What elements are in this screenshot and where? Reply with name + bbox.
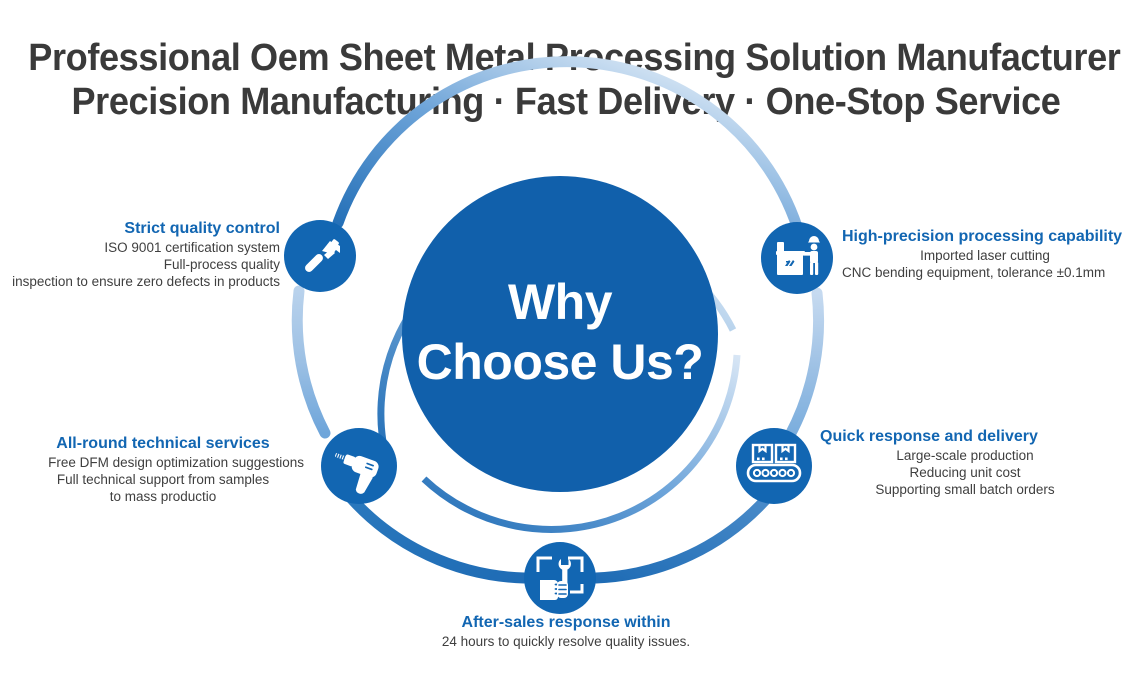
feature-line: inspection to ensure zero defects in pro…: [4, 273, 280, 290]
feature-title: High-precision processing capability: [842, 227, 1128, 247]
feature-text-quick-response-and-delivery: Quick response and delivery Large-scale …: [820, 427, 1110, 498]
arc-right: [790, 293, 819, 435]
feature-line: Reducing unit cost: [820, 464, 1110, 481]
feature-title: Quick response and delivery: [820, 427, 1110, 447]
feature-text-all-round-technical-services: All-round technical services Free DFM de…: [22, 434, 304, 505]
feature-line: Full-process quality: [4, 256, 280, 273]
arc-bottom-left: [350, 497, 524, 578]
feature-line: ISO 9001 certification system: [4, 239, 280, 256]
feature-text-high-precision-processing: High-precision processing capability Imp…: [842, 227, 1128, 281]
arc-bottom-right: [596, 497, 768, 578]
feature-text-after-sales-response: After-sales response within 24 hours to …: [366, 613, 766, 650]
feature-line: Supporting small batch orders: [820, 481, 1110, 498]
center-circle: [402, 176, 718, 492]
feature-line: Imported laser cutting: [842, 247, 1128, 264]
feature-line: CNC bending equipment, tolerance ±0.1mm: [842, 264, 1128, 281]
feature-node-all-round-technical-services[interactable]: [321, 428, 397, 504]
arc-left: [297, 291, 325, 433]
feature-line: Large-scale production: [820, 447, 1110, 464]
feature-node-quick-response-and-delivery[interactable]: [736, 428, 812, 504]
feature-title: After-sales response within: [366, 613, 766, 633]
feature-line: 24 hours to quickly resolve quality issu…: [366, 633, 766, 650]
why-choose-us-diagram: [0, 0, 1132, 680]
feature-text-strict-quality-control: Strict quality control ISO 9001 certific…: [4, 219, 280, 290]
feature-title: Strict quality control: [4, 219, 280, 239]
feature-title: All-round technical services: [22, 434, 304, 454]
feature-node-strict-quality-control[interactable]: [284, 220, 356, 292]
feature-line: Full technical support from samples: [22, 471, 304, 488]
icon-circle: [524, 542, 596, 614]
feature-node-high-precision-processing[interactable]: [761, 222, 833, 294]
infographic-canvas: Professional Oem Sheet Metal Processing …: [0, 0, 1132, 680]
feature-node-after-sales-response[interactable]: [524, 542, 596, 614]
feature-line: to mass productio: [22, 488, 304, 505]
feature-line: Free DFM design optimization suggestions: [22, 454, 304, 471]
